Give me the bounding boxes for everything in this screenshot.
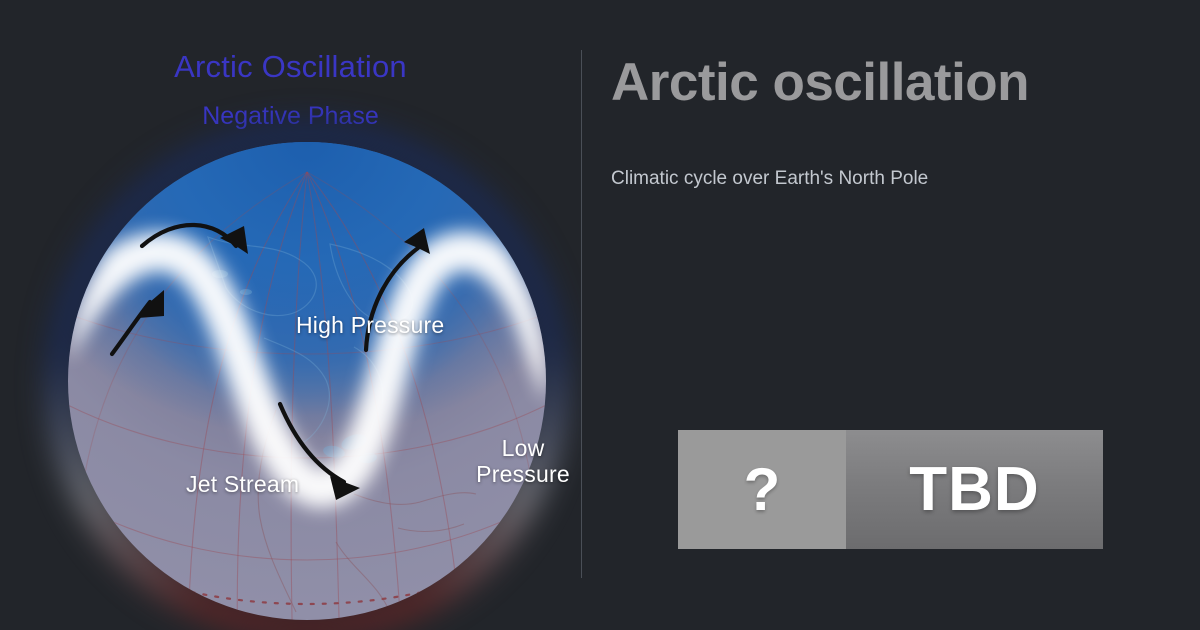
arrow-head-top-left [220, 226, 248, 254]
label-high-pressure: High Pressure [296, 312, 444, 338]
arrow-head-bottom [330, 476, 360, 500]
label-low-pressure: Low Pressure [466, 435, 580, 487]
jet-stream-arrows [68, 142, 546, 620]
tbd-badge: ? TBD [678, 430, 1103, 549]
arrow-head-left [138, 290, 164, 318]
page-description: Climatic cycle over Earth's North Pole [611, 163, 1011, 195]
globe-graphic: High Pressure Jet Stream Low Pressure [68, 142, 546, 620]
arctic-oscillation-illustration: Arctic Oscillation Negative Phase [0, 0, 581, 630]
globe-sphere [68, 142, 546, 620]
illustration-title: Arctic Oscillation [0, 48, 581, 86]
infobox-card: Arctic Oscillation Negative Phase [0, 0, 1200, 630]
label-jet-stream: Jet Stream [186, 471, 299, 497]
page-title: Arctic oscillation [611, 52, 1171, 114]
tbd-label: TBD [846, 430, 1103, 549]
arrow-path-top-left [142, 225, 236, 246]
illustration-subtitle: Negative Phase [0, 100, 581, 132]
question-mark-icon: ? [678, 430, 846, 549]
info-panel: Arctic oscillation Climatic cycle over E… [582, 0, 1200, 630]
